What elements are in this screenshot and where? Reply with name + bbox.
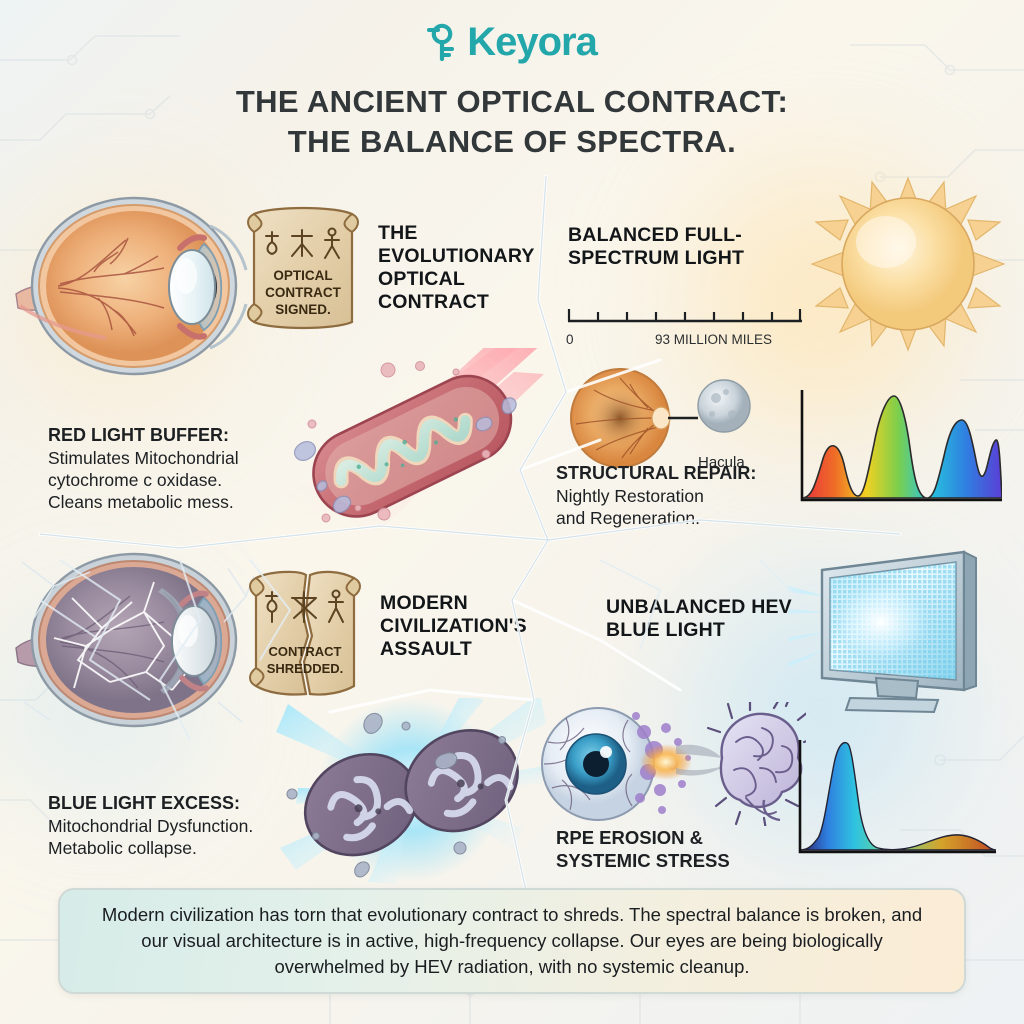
scroll-line2: CONTRACT: [265, 285, 341, 300]
summary-callout: Modern civilization has torn that evolut…: [58, 888, 966, 994]
red-light-buffer-line3: Cleans metabolic mess.: [48, 491, 298, 513]
page-title-line2: THE BALANCE OF SPECTRA.: [0, 122, 1024, 162]
unbalanced-spectrum-chart: [790, 738, 998, 871]
balanced-spectrum-plot: [790, 384, 1002, 510]
rpe-erosion-illustration: [536, 702, 806, 831]
scroll-line1: OPTICAL: [273, 268, 332, 283]
torn-scroll-line2: SHREDDED.: [267, 661, 344, 676]
rpe-erosion-line2: SYSTEMIC STRESS: [556, 849, 806, 872]
optical-contract-scroll: OPTICAL CONTRACT SIGNED.: [242, 202, 364, 334]
ruler-start-label: 0: [566, 332, 574, 347]
torn-scroll-line1: CONTRACT: [269, 644, 342, 659]
red-light-buffer-lead: RED LIGHT BUFFER:: [48, 424, 298, 447]
page-title-line1: THE ANCIENT OPTICAL CONTRACT:: [0, 82, 1024, 122]
rpe-erosion-line1: RPE EROSION &: [556, 826, 806, 849]
scroll-line3: SIGNED.: [275, 302, 331, 317]
sun-illustration: [810, 176, 1006, 357]
healthy-mitochondrion-icon: [276, 348, 544, 530]
sun-icon: [810, 176, 1006, 352]
damaged-eye-illustration: [14, 542, 254, 737]
ruler-end-label: 93 MILLION MILES: [655, 332, 772, 347]
damaged-eye-cross-section-icon: [14, 542, 254, 732]
balanced-spectrum-chart: [790, 384, 1002, 515]
contract-shredded-scroll: CONTRACT SHREDDED.: [244, 566, 366, 700]
monitor-illustration: [788, 540, 1018, 721]
summary-text: Modern civilization has torn that evolut…: [86, 902, 938, 981]
unbalanced-spectrum-plot: [790, 738, 998, 866]
blue-light-excess-lead: BLUE LIGHT EXCESS:: [48, 792, 308, 815]
retina-fundus-icon: [568, 364, 788, 474]
heading-modern-civilizations-assault: MODERN CIVILIZATION'S ASSAULT: [380, 592, 560, 661]
key-icon: [427, 23, 461, 61]
brand-name: Keyora: [467, 22, 597, 62]
heading-unbalanced-hev-blue-light: UNBALANCED HEV BLUE LIGHT: [606, 596, 816, 642]
distance-ruler: 0 93 MILLION MILES: [566, 307, 806, 347]
red-light-buffer-caption: RED LIGHT BUFFER: Stimulates Mitochondri…: [48, 424, 298, 513]
computer-monitor-icon: [788, 540, 1018, 716]
blue-light-excess-caption: BLUE LIGHT EXCESS: Mitochondrial Dysfunc…: [48, 792, 308, 859]
structural-repair-line1: Nightly Restoration: [556, 485, 806, 507]
scroll-icon: OPTICAL CONTRACT SIGNED.: [242, 202, 364, 334]
heading-evolutionary-optical-contract: THE EVOLUTIONARY OPTICAL CONTRACT: [378, 222, 538, 314]
heading-balanced-full-spectrum-light: BALANCED FULL-SPECTRUM LIGHT: [568, 224, 758, 270]
torn-scroll-icon: CONTRACT SHREDDED.: [244, 566, 366, 700]
red-light-buffer-line2: cytochrome c oxidase.: [48, 469, 298, 491]
page-title: THE ANCIENT OPTICAL CONTRACT: THE BALANC…: [0, 82, 1024, 161]
structural-repair-lead: STRUCTURAL REPAIR:: [556, 462, 806, 485]
structural-repair-caption: STRUCTURAL REPAIR: Nightly Restoration a…: [556, 462, 806, 529]
eye-to-brain-icon: [536, 702, 806, 826]
structural-repair-line2: and Regeneration.: [556, 507, 806, 529]
healthy-mitochondrion-illustration: [276, 348, 544, 535]
blue-light-excess-line2: Metabolic collapse.: [48, 837, 308, 859]
brand-logo: Keyora: [0, 22, 1024, 62]
healthy-eye-cross-section-icon: [14, 186, 254, 382]
healthy-eye-illustration: [14, 186, 254, 387]
damaged-mitochondria-icon: [272, 698, 546, 884]
ruler-icon: [566, 307, 806, 325]
damaged-mitochondria-illustration: [272, 698, 546, 889]
red-light-buffer-line1: Stimulates Mitochondrial: [48, 447, 298, 469]
rpe-erosion-caption: RPE EROSION & SYSTEMIC STRESS: [556, 826, 806, 873]
blue-light-excess-line1: Mitochondrial Dysfunction.: [48, 815, 308, 837]
